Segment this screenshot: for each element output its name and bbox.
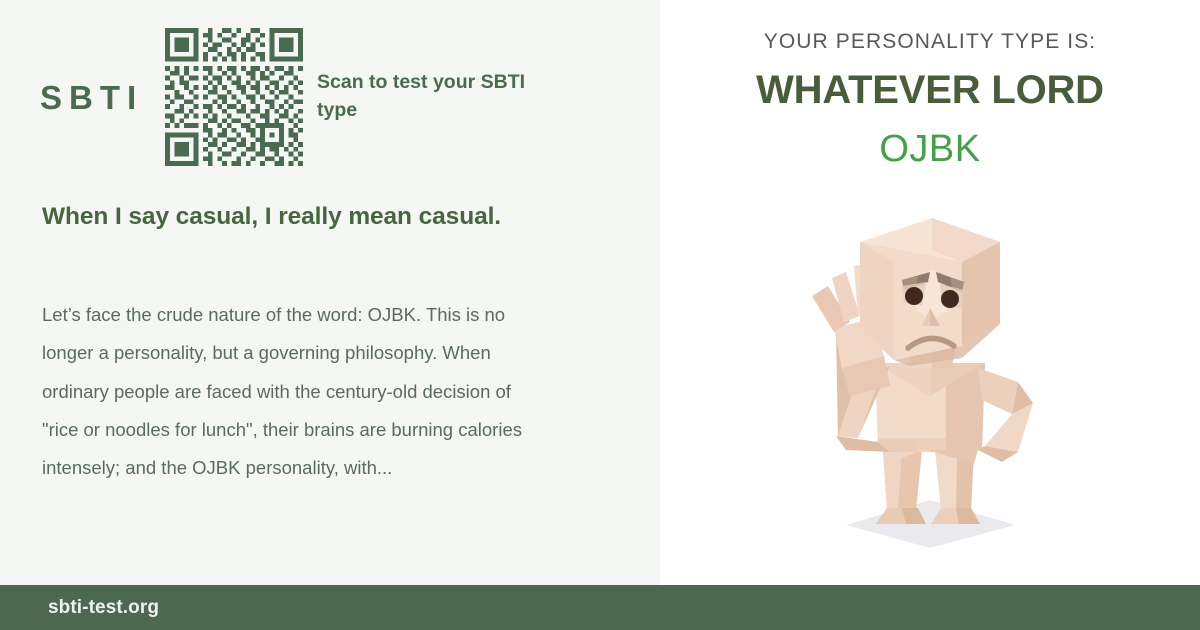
personality-type-label: YOUR PERSONALITY TYPE IS:	[660, 30, 1200, 54]
left-panel: SBTI	[0, 0, 660, 585]
brand-row: SBTI	[40, 28, 547, 166]
right-panel: YOUR PERSONALITY TYPE IS: WHATEVER LORD …	[660, 0, 1200, 578]
result-description: Let’s face the crude nature of the word:…	[42, 296, 542, 487]
brand-logo: SBTI	[40, 81, 165, 114]
low-poly-character-icon	[750, 200, 1110, 550]
result-card: SBTI	[0, 0, 1200, 630]
footer-url[interactable]: sbti-test.org	[48, 597, 159, 619]
personality-type-code: OJBK	[660, 128, 1200, 171]
scan-prompt-label: Scan to test your SBTI type	[317, 69, 547, 124]
result-headline: When I say casual, I really mean casual.	[42, 198, 512, 235]
qr-code-icon[interactable]	[165, 28, 303, 166]
footer-bar: sbti-test.org	[0, 585, 1200, 630]
personality-type-name: WHATEVER LORD	[660, 68, 1200, 113]
